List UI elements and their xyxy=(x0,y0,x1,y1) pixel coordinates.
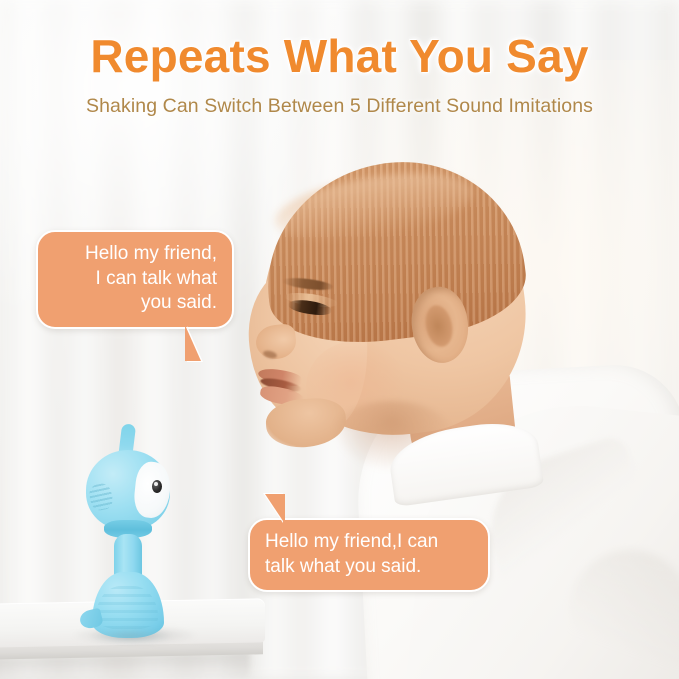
heading-block: Repeats What You Say Shaking Can Switch … xyxy=(0,32,679,118)
page-title: Repeats What You Say xyxy=(0,32,679,82)
bubble-toy-line-2: I can talk what xyxy=(53,267,217,292)
speech-bubble-toy: Hello my friend, I can talk what you sai… xyxy=(36,230,234,329)
bubble-toy-line-3: you said. xyxy=(53,291,217,316)
toy-eye-glint xyxy=(154,482,158,486)
rattle-toy xyxy=(76,424,180,639)
baby-figure xyxy=(240,155,679,679)
speech-bubble-baby-tail xyxy=(260,494,285,524)
bubble-baby-line-2: talk what you said. xyxy=(265,555,473,580)
bubble-toy-line-1: Hello my friend, xyxy=(53,242,217,267)
toy-base-ridges xyxy=(96,586,158,630)
speech-bubble-baby: Hello my friend,I can talk what you said… xyxy=(248,518,490,592)
page-subtitle: Shaking Can Switch Between 5 Different S… xyxy=(0,95,679,118)
product-feature-image: Repeats What You Say Shaking Can Switch … xyxy=(0,0,679,679)
bubble-baby-line-1: Hello my friend,I can xyxy=(265,530,473,555)
toy-drop-shadow xyxy=(90,629,170,643)
shirt-fold-lower xyxy=(570,550,679,679)
speech-bubble-toy-tail xyxy=(185,325,208,361)
